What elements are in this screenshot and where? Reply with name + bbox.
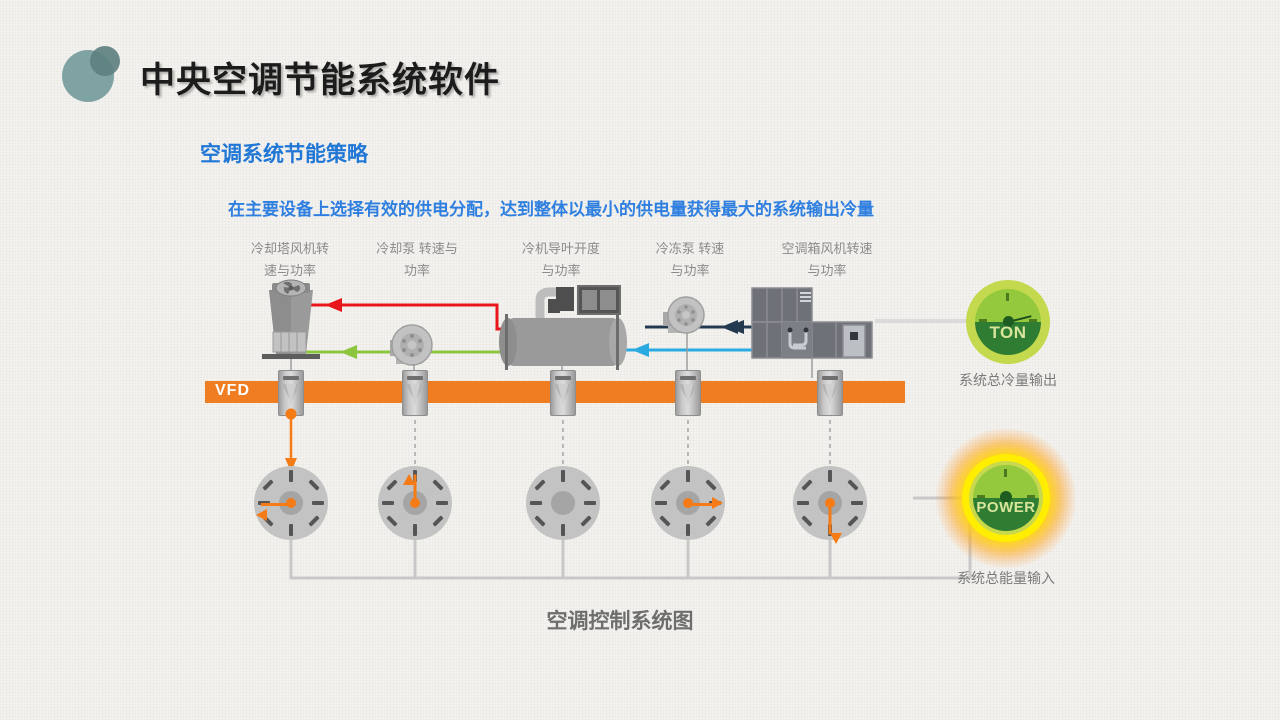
gauge-tick	[797, 501, 809, 505]
section-description: 在主要设备上选择有效的供电分配，达到整体以最小的供电量获得最大的系统输出冷量	[228, 195, 874, 220]
vfd-drive-unit-1[interactable]	[278, 370, 304, 416]
power-gauge-text: POWER	[973, 499, 1039, 516]
ton-gauge-face: TON	[975, 289, 1041, 355]
gauge-tick	[655, 501, 667, 505]
gauge-needle-head	[712, 497, 723, 509]
gauge-tick	[828, 470, 832, 482]
gauge-tick	[561, 524, 565, 536]
gauge-hub	[551, 491, 575, 515]
equipment-label-cooling-tower: 冷却塔风机转 速与功率	[225, 238, 355, 282]
gauge-pin	[410, 498, 420, 508]
power-gauge-face: POWER	[973, 465, 1039, 531]
vfd-drive-slot	[283, 376, 299, 380]
equipment-label-chiller: 冷机导叶开度 与功率	[496, 238, 626, 282]
gauge-pin	[825, 498, 835, 508]
condenser-supply-pipe	[300, 345, 520, 359]
vfd-drive-slot	[822, 376, 838, 380]
chilled-water-supply-pipe	[618, 343, 760, 357]
ton-indicator-gauge[interactable]: TON	[966, 280, 1050, 364]
vfd-drive-funnel-inner	[558, 384, 568, 406]
gauge-tick	[584, 501, 596, 505]
vfd-drive-unit-5[interactable]	[817, 370, 843, 416]
vfd-drop-lines	[285, 412, 830, 472]
equipment-label-line1: 空调箱风机转速	[757, 238, 897, 260]
motor-gauge-cooling-tower[interactable]	[254, 466, 328, 540]
gauge-needle-head	[830, 533, 842, 544]
power-gauge-mark-top	[1004, 469, 1007, 477]
cooling-tower-icon	[262, 280, 320, 378]
equipment-label-ahu: 空调箱风机转速 与功率	[757, 238, 897, 282]
section-title: 空调系统节能策略	[200, 138, 368, 168]
gauge-tick	[312, 501, 324, 505]
air-handling-unit-icon	[752, 288, 872, 378]
logo-circle-small	[90, 46, 120, 76]
slide-canvas: 中央空调节能系统软件 空调系统节能策略 在主要设备上选择有效的供电分配，达到整体…	[0, 0, 1280, 720]
equipment-label-line2: 与功率	[496, 260, 626, 282]
vfd-drive-unit-3[interactable]	[550, 370, 576, 416]
vfd-drive-funnel-inner	[286, 384, 296, 406]
gauge-tick	[686, 524, 690, 536]
vfd-drive-slot	[555, 376, 571, 380]
gauge-tick	[289, 524, 293, 536]
power-indicator-gauge[interactable]: POWER	[962, 454, 1050, 542]
gauge-tick	[382, 501, 394, 505]
chilled-water-pump-icon	[663, 297, 704, 378]
teal-circles-logo	[60, 42, 130, 104]
gauge-tick	[289, 470, 293, 482]
equipment-label-chilled-pump: 冷冻泵 转速 与功率	[625, 238, 755, 282]
ton-gauge-mark-top	[1006, 293, 1009, 301]
equipment-label-line1: 冷冻泵 转速	[625, 238, 755, 260]
equipment-label-line2: 速与功率	[225, 260, 355, 282]
gauge-needle-head	[403, 474, 415, 485]
vfd-drive-slot	[407, 376, 423, 380]
equipment-label-line2: 与功率	[625, 260, 755, 282]
motor-gauge-ahu[interactable]	[793, 466, 867, 540]
ton-gauge-mark-right	[1029, 319, 1037, 322]
condenser-return-pipe	[300, 298, 520, 329]
vfd-drive-unit-2[interactable]	[402, 370, 428, 416]
gauge-needle	[829, 505, 832, 535]
gauge-tick	[413, 524, 417, 536]
vfd-drive-funnel-inner	[410, 384, 420, 406]
power-gauge-mark-left	[977, 495, 985, 498]
power-gauge-mark-right	[1027, 495, 1035, 498]
vfd-bus-label: VFD	[215, 382, 250, 400]
gauge-pin	[286, 498, 296, 508]
chilled-water-return-pipe	[645, 320, 760, 334]
gauge-pin	[683, 498, 693, 508]
equipment-label-line1: 冷却塔风机转	[225, 238, 355, 260]
equipment-label-line1: 冷却泵 转速与	[352, 238, 482, 260]
motor-gauge-chiller[interactable]	[526, 466, 600, 540]
gauge-tick	[530, 501, 542, 505]
chiller-icon	[499, 286, 627, 378]
vfd-drive-funnel-inner	[683, 384, 693, 406]
diagram-caption: 空调控制系统图	[440, 605, 800, 635]
equipment-label-cooling-pump: 冷却泵 转速与 功率	[352, 238, 482, 282]
motor-gauge-chilled-pump[interactable]	[651, 466, 725, 540]
ton-indicator-label: 系统总冷量输出	[908, 370, 1108, 390]
vfd-drive-slot	[680, 376, 696, 380]
gauge-needle-head	[256, 509, 267, 521]
gauge-tick	[561, 470, 565, 482]
ton-gauge-text: TON	[975, 323, 1041, 343]
equipment-label-line2: 功率	[352, 260, 482, 282]
ton-gauge-mark-left	[979, 319, 987, 322]
equipment-label-line2: 与功率	[757, 260, 897, 282]
gauge-tick	[686, 470, 690, 482]
gauge-tick	[436, 501, 448, 505]
vfd-drive-funnel-inner	[825, 384, 835, 406]
gauge-tick	[851, 501, 863, 505]
equipment-label-line1: 冷机导叶开度	[496, 238, 626, 260]
page-title: 中央空调节能系统软件	[140, 52, 500, 103]
vfd-drive-unit-4[interactable]	[675, 370, 701, 416]
motor-gauge-cooling-pump[interactable]	[378, 466, 452, 540]
power-indicator-label: 系统总能量输入	[906, 568, 1106, 588]
